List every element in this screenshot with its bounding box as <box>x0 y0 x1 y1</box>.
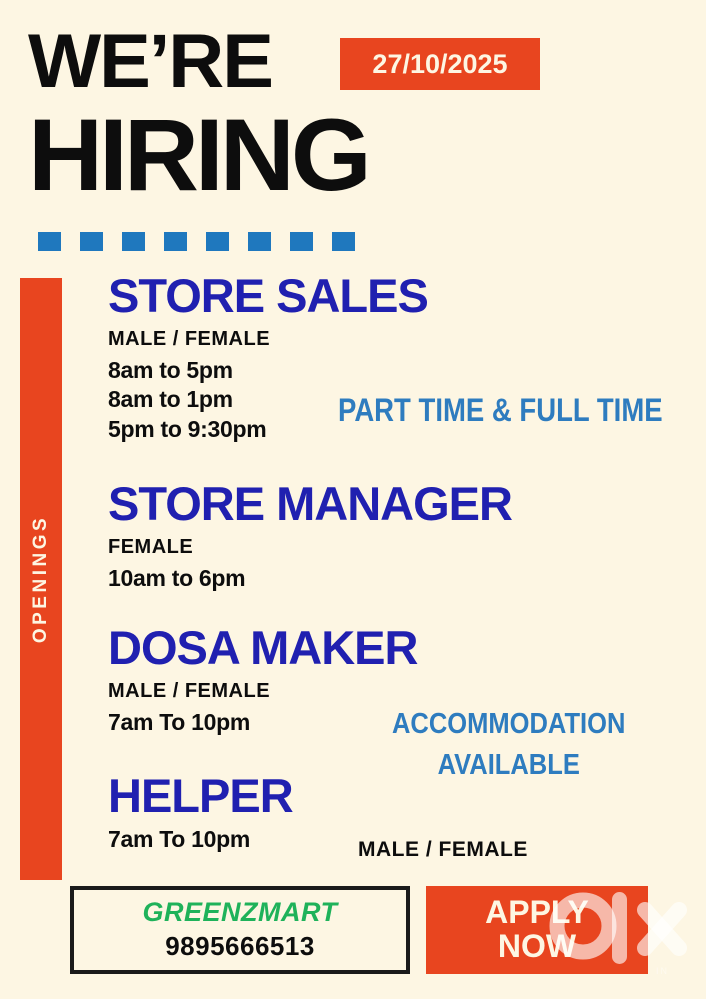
helper-gender-note: MALE / FEMALE <box>358 838 528 862</box>
job-title: DOSA MAKER <box>108 624 417 671</box>
dash-square <box>206 232 229 251</box>
headline-were: WE’RE <box>28 24 272 100</box>
dash-square <box>80 232 103 251</box>
job-title: STORE MANAGER <box>108 480 512 527</box>
job-title: HELPER <box>108 772 293 819</box>
dash-divider <box>38 232 355 251</box>
dash-square <box>332 232 355 251</box>
job-title: STORE SALES <box>108 272 428 319</box>
contact-box: GREENZMART 9895666513 <box>70 886 410 974</box>
job-timings: 7am To 10pm <box>108 825 293 854</box>
dash-square <box>38 232 61 251</box>
note-accommodation-line1: ACCOMMODATION <box>392 708 625 740</box>
apply-label-line1: APPLY <box>485 896 589 930</box>
dash-square <box>290 232 313 251</box>
dash-square <box>164 232 187 251</box>
company-name: GREENZMART <box>142 898 337 928</box>
job-entry-dosa-maker: DOSA MAKER MALE / FEMALE 7am To 10pm <box>108 624 417 737</box>
note-accommodation-line2: AVAILABLE <box>392 749 625 782</box>
job-gender: MALE / FEMALE <box>108 680 417 703</box>
dash-square <box>248 232 271 251</box>
job-list: STORE SALES MALE / FEMALE 8am to 5pm 8am… <box>0 272 706 882</box>
job-timings: 10am to 6pm <box>108 564 512 593</box>
apply-label-line2: NOW <box>498 930 576 964</box>
note-accommodation: ACCOMMODATION AVAILABLE <box>392 708 625 782</box>
apply-now-button[interactable]: APPLY NOW <box>426 886 648 974</box>
note-part-time: PART TIME & FULL TIME <box>338 392 663 429</box>
svg-text:IN: IN <box>656 966 669 976</box>
hiring-poster: WE’RE HIRING 27/10/2025 OPENINGS STORE S… <box>0 0 706 999</box>
date-badge: 27/10/2025 <box>340 38 540 90</box>
phone-number[interactable]: 9895666513 <box>165 931 315 962</box>
job-timings: 7am To 10pm <box>108 708 417 737</box>
headline-hiring: HIRING <box>28 104 368 206</box>
date-badge-text: 27/10/2025 <box>372 49 507 80</box>
job-entry-store-manager: STORE MANAGER FEMALE 10am to 6pm <box>108 480 512 593</box>
dash-square <box>122 232 145 251</box>
job-gender: FEMALE <box>108 536 512 559</box>
job-gender: MALE / FEMALE <box>108 328 428 351</box>
job-entry-helper: HELPER 7am To 10pm <box>108 772 293 854</box>
